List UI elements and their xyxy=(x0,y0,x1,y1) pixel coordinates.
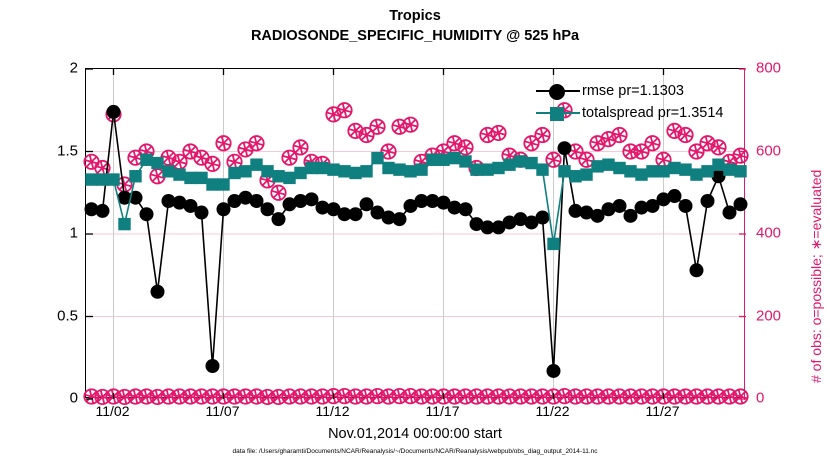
y-tick-label-right: 400 xyxy=(756,225,816,242)
y-tick-label-right: 0 xyxy=(756,390,816,407)
data-point-square xyxy=(404,165,416,177)
chart-subtitle: RADIOSONDE_SPECIFIC_HUMIDITY @ 525 hPa xyxy=(0,26,830,46)
legend-swatch-rmse xyxy=(536,82,580,100)
data-point-circle xyxy=(558,141,572,155)
data-point-square xyxy=(437,154,449,166)
data-point-square xyxy=(162,165,174,177)
data-point-square xyxy=(547,238,559,250)
obs-asterisk-icon xyxy=(647,138,657,148)
legend-item-totalspread[interactable]: totalspread pr=1.3514 xyxy=(536,102,736,124)
data-point-square xyxy=(668,162,680,174)
y-tick-label-left: 0 xyxy=(18,390,78,407)
obs-asterisk-icon xyxy=(273,188,283,198)
chart-title: Tropics xyxy=(0,6,830,26)
data-point-circle xyxy=(459,202,473,216)
data-point-square xyxy=(525,157,537,169)
data-point-square xyxy=(140,154,152,166)
data-point-square xyxy=(459,155,471,167)
obs-asterisk-icon xyxy=(339,105,349,115)
data-point-square xyxy=(448,152,460,164)
data-point-circle xyxy=(536,211,550,225)
data-point-square xyxy=(250,159,262,171)
data-point-square xyxy=(151,157,163,169)
y-tick-label-right: 600 xyxy=(756,142,816,159)
obs-asterisk-icon xyxy=(229,157,239,167)
data-point-circle xyxy=(107,105,121,119)
data-point-square xyxy=(85,173,97,185)
data-point-square xyxy=(723,163,735,175)
data-point-square xyxy=(107,173,119,185)
x-tick-label: 11/17 xyxy=(403,403,483,419)
data-point-square xyxy=(294,167,306,179)
data-point-circle xyxy=(140,207,154,221)
data-point-square xyxy=(536,163,548,175)
data-point-square xyxy=(558,165,570,177)
data-point-square xyxy=(338,165,350,177)
x-tick-label: 11/22 xyxy=(513,403,593,419)
obs-asterisk-icon xyxy=(295,142,305,152)
data-point-square xyxy=(503,159,515,171)
data-point-square xyxy=(283,172,295,184)
data-point-square xyxy=(96,173,108,185)
data-point-square xyxy=(349,167,361,179)
x-tick-label: 11/07 xyxy=(183,403,263,419)
data-point-square xyxy=(679,163,691,175)
obs-asterisk-icon xyxy=(251,138,261,148)
y-tick-label-left: 1.5 xyxy=(18,142,78,159)
y-tick-label-left: 2 xyxy=(18,60,78,77)
data-point-square xyxy=(382,162,394,174)
data-point-square xyxy=(580,168,592,180)
data-point-square xyxy=(118,218,130,230)
data-point-square xyxy=(272,170,284,182)
obs-asterisk-icon xyxy=(581,155,591,165)
data-point-square xyxy=(217,178,229,190)
y-axis-label-right: # of obs: o=possible; ∗=evaluated xyxy=(808,170,825,383)
data-point-square xyxy=(734,165,746,177)
data-point-circle xyxy=(96,204,110,218)
x-axis-label: Nov.01,2014 00:00:00 start xyxy=(0,426,830,442)
data-point-circle xyxy=(679,199,693,213)
obs-markers xyxy=(84,103,747,404)
data-point-circle xyxy=(261,202,275,216)
data-point-square xyxy=(481,163,493,175)
data-point-square xyxy=(360,165,372,177)
legend: rmse pr=1.1303 totalspread pr=1.3514 xyxy=(536,80,736,124)
y-tick-label-left: 0.5 xyxy=(18,307,78,324)
chart-figure: Tropics RADIOSONDE_SPECIFIC_HUMIDITY @ 5… xyxy=(0,0,830,470)
y-tick-label-right: 200 xyxy=(756,307,816,324)
data-point-circle xyxy=(734,197,748,211)
legend-item-rmse[interactable]: rmse pr=1.1303 xyxy=(536,80,736,102)
data-point-circle xyxy=(206,359,220,373)
y-tick-label-right: 800 xyxy=(756,60,816,77)
obs-asterisk-icon xyxy=(614,130,624,140)
data-point-square xyxy=(316,162,328,174)
data-point-square xyxy=(591,160,603,172)
x-tick-label: 11/02 xyxy=(73,403,153,419)
data-point-square xyxy=(305,162,317,174)
data-point-square xyxy=(415,163,427,175)
obs-asterisk-icon xyxy=(526,138,536,148)
data-point-circle xyxy=(393,212,407,226)
data-point-circle xyxy=(668,189,682,203)
series-rmse xyxy=(85,105,748,378)
data-point-circle xyxy=(690,263,704,277)
data-point-square xyxy=(712,159,724,171)
legend-label-rmse: rmse pr=1.1303 xyxy=(580,83,684,99)
data-point-circle xyxy=(701,194,715,208)
data-point-circle xyxy=(547,364,561,378)
data-point-square xyxy=(239,165,251,177)
data-point-square xyxy=(657,165,669,177)
title-block: Tropics RADIOSONDE_SPECIFIC_HUMIDITY @ 5… xyxy=(0,0,830,46)
data-point-circle xyxy=(349,207,363,221)
obs-asterisk-icon xyxy=(284,153,294,163)
x-tick-label: 11/12 xyxy=(293,403,373,419)
data-point-square xyxy=(602,159,614,171)
data-point-square xyxy=(624,165,636,177)
data-point-square xyxy=(690,168,702,180)
data-point-circle xyxy=(272,212,286,226)
data-point-square xyxy=(635,168,647,180)
legend-swatch-totalspread xyxy=(536,104,580,122)
obs-asterisk-icon xyxy=(119,179,129,189)
data-point-square xyxy=(569,170,581,182)
data-point-square xyxy=(371,152,383,164)
data-point-square xyxy=(514,155,526,167)
obs-asterisk-icon xyxy=(152,171,162,181)
data-point-square xyxy=(184,172,196,184)
data-point-square xyxy=(173,168,185,180)
data-point-square xyxy=(426,154,438,166)
data-point-square xyxy=(195,172,207,184)
x-tick-label: 11/27 xyxy=(623,403,703,419)
data-point-square xyxy=(492,162,504,174)
data-point-square xyxy=(261,165,273,177)
y-tick-label-left: 1 xyxy=(18,225,78,242)
data-file-footer: data file: /Users/gharamti/Documents/NCA… xyxy=(0,448,830,455)
legend-label-totalspread: totalspread pr=1.3514 xyxy=(580,105,723,121)
data-point-square xyxy=(470,163,482,175)
data-point-square xyxy=(393,163,405,175)
data-point-circle xyxy=(151,285,165,299)
obs-asterisk-icon xyxy=(537,130,547,140)
data-point-circle xyxy=(195,206,209,220)
data-point-circle xyxy=(613,199,627,213)
data-point-square xyxy=(613,162,625,174)
data-point-square xyxy=(206,178,218,190)
data-point-square xyxy=(228,167,240,179)
data-point-square xyxy=(327,163,339,175)
obs-asterisk-icon xyxy=(372,122,382,132)
data-point-square xyxy=(129,170,141,182)
data-point-square xyxy=(646,165,658,177)
data-point-square xyxy=(701,165,713,177)
